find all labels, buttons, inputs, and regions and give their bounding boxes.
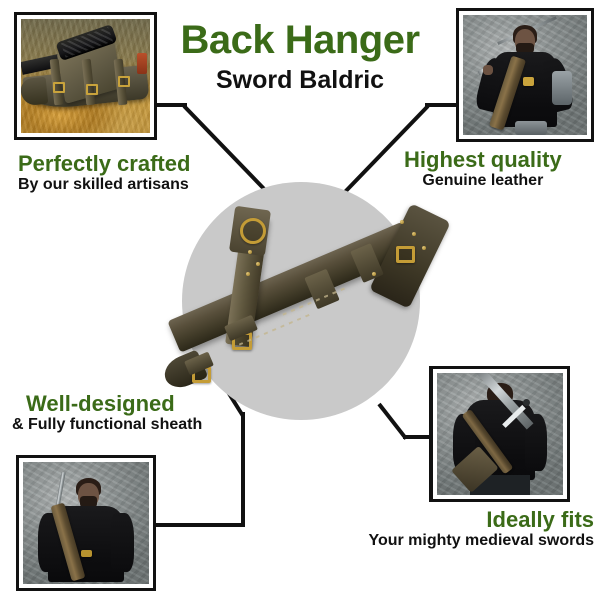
photo-inner (463, 15, 587, 135)
background-object (137, 53, 147, 74)
connector-top-right-horizontal (425, 103, 458, 107)
rivet-6 (422, 246, 426, 250)
feature-photo-ideally-fits[interactable] (430, 366, 570, 502)
rivet-4 (400, 220, 404, 224)
photo-inner (437, 373, 563, 495)
caption-headline: Ideally fits (336, 508, 594, 532)
sword-pommel (523, 399, 530, 406)
leg-armor (515, 121, 547, 135)
rivet-7 (372, 272, 376, 276)
sheath-buckle-2 (86, 84, 98, 95)
rivet-2 (256, 262, 260, 266)
feature-photo-perfectly-crafted[interactable] (14, 12, 157, 140)
baldric-buckle (523, 77, 534, 85)
rivet-1 (248, 250, 252, 254)
rivet-3 (246, 272, 250, 276)
feature-photo-well-designed[interactable] (16, 455, 156, 591)
caption-subline: Genuine leather (404, 172, 562, 190)
caption-well-designed: Well-designed & Fully functional sheath (12, 392, 202, 433)
sheath-buckle-3 (118, 76, 130, 87)
sheath-buckle-1 (53, 82, 65, 93)
buckle-upper-arm (396, 246, 415, 263)
caption-subline: By our skilled artisans (18, 176, 190, 194)
caption-subline: Your mighty medieval swords (336, 532, 594, 550)
caption-headline: Perfectly crafted (18, 152, 190, 176)
caption-perfectly-crafted: Perfectly crafted By our skilled artisan… (18, 152, 190, 193)
arm-bracer (552, 71, 572, 105)
connector-bottom-left-horizontal (156, 523, 245, 527)
caption-highest-quality: Highest quality Genuine leather (404, 148, 562, 189)
product-image-baldric (160, 180, 450, 430)
buckle-shoulder (240, 218, 266, 244)
caption-headline: Well-designed (26, 392, 202, 416)
feature-photo-highest-quality[interactable] (456, 8, 594, 142)
model-hand (483, 65, 493, 75)
rivet-5 (412, 232, 416, 236)
model-arm-right (111, 513, 134, 572)
photo-inner (21, 19, 150, 133)
caption-headline: Highest quality (404, 148, 562, 172)
caption-ideally-fits: Ideally fits Your mighty medieval swords (336, 508, 594, 549)
baldric-buckle (81, 550, 92, 557)
caption-subline: & Fully functional sheath (12, 416, 202, 434)
infographic-canvas: Back Hanger Sword Baldric (0, 0, 600, 600)
photo-inner (23, 462, 149, 584)
